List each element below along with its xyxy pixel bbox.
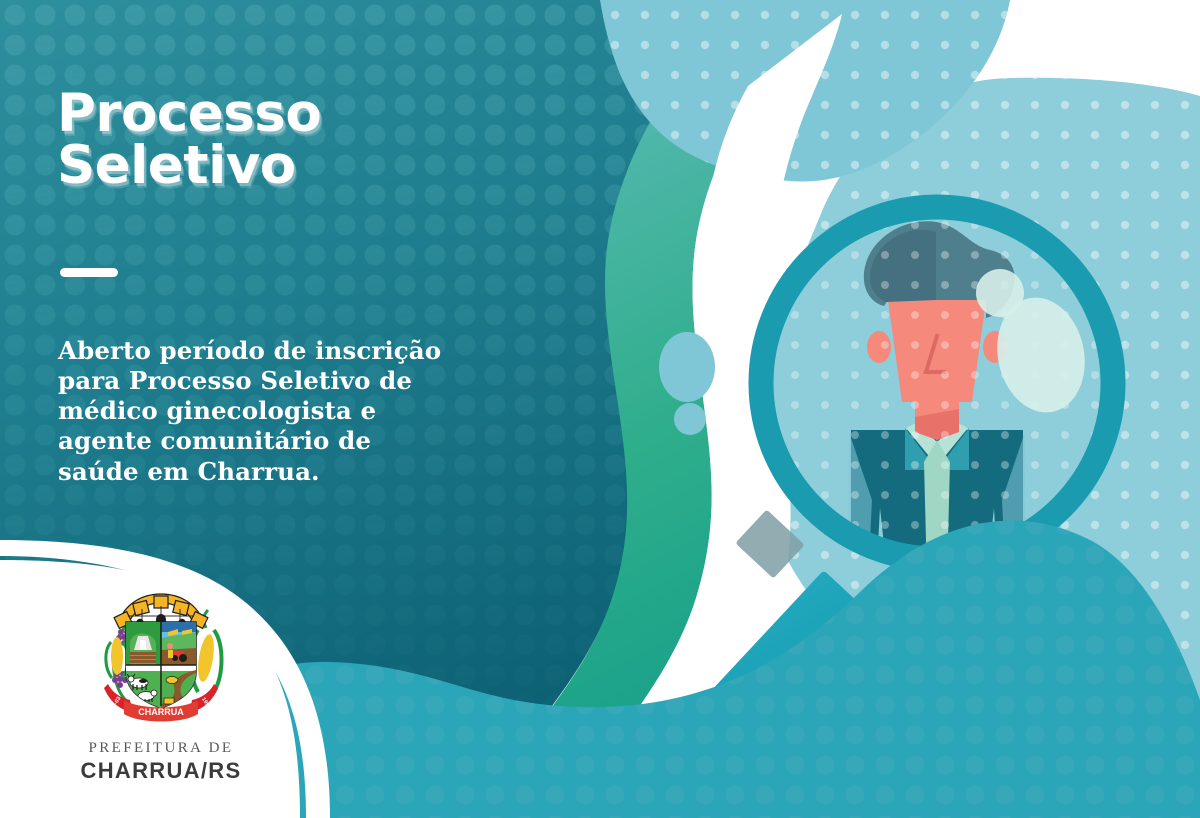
poster-artwork: [0, 0, 1200, 818]
bubble-large: [659, 332, 715, 402]
poster-canvas: Processo Seletivo Aberto período de insc…: [0, 0, 1200, 818]
bubble-small: [674, 403, 706, 435]
